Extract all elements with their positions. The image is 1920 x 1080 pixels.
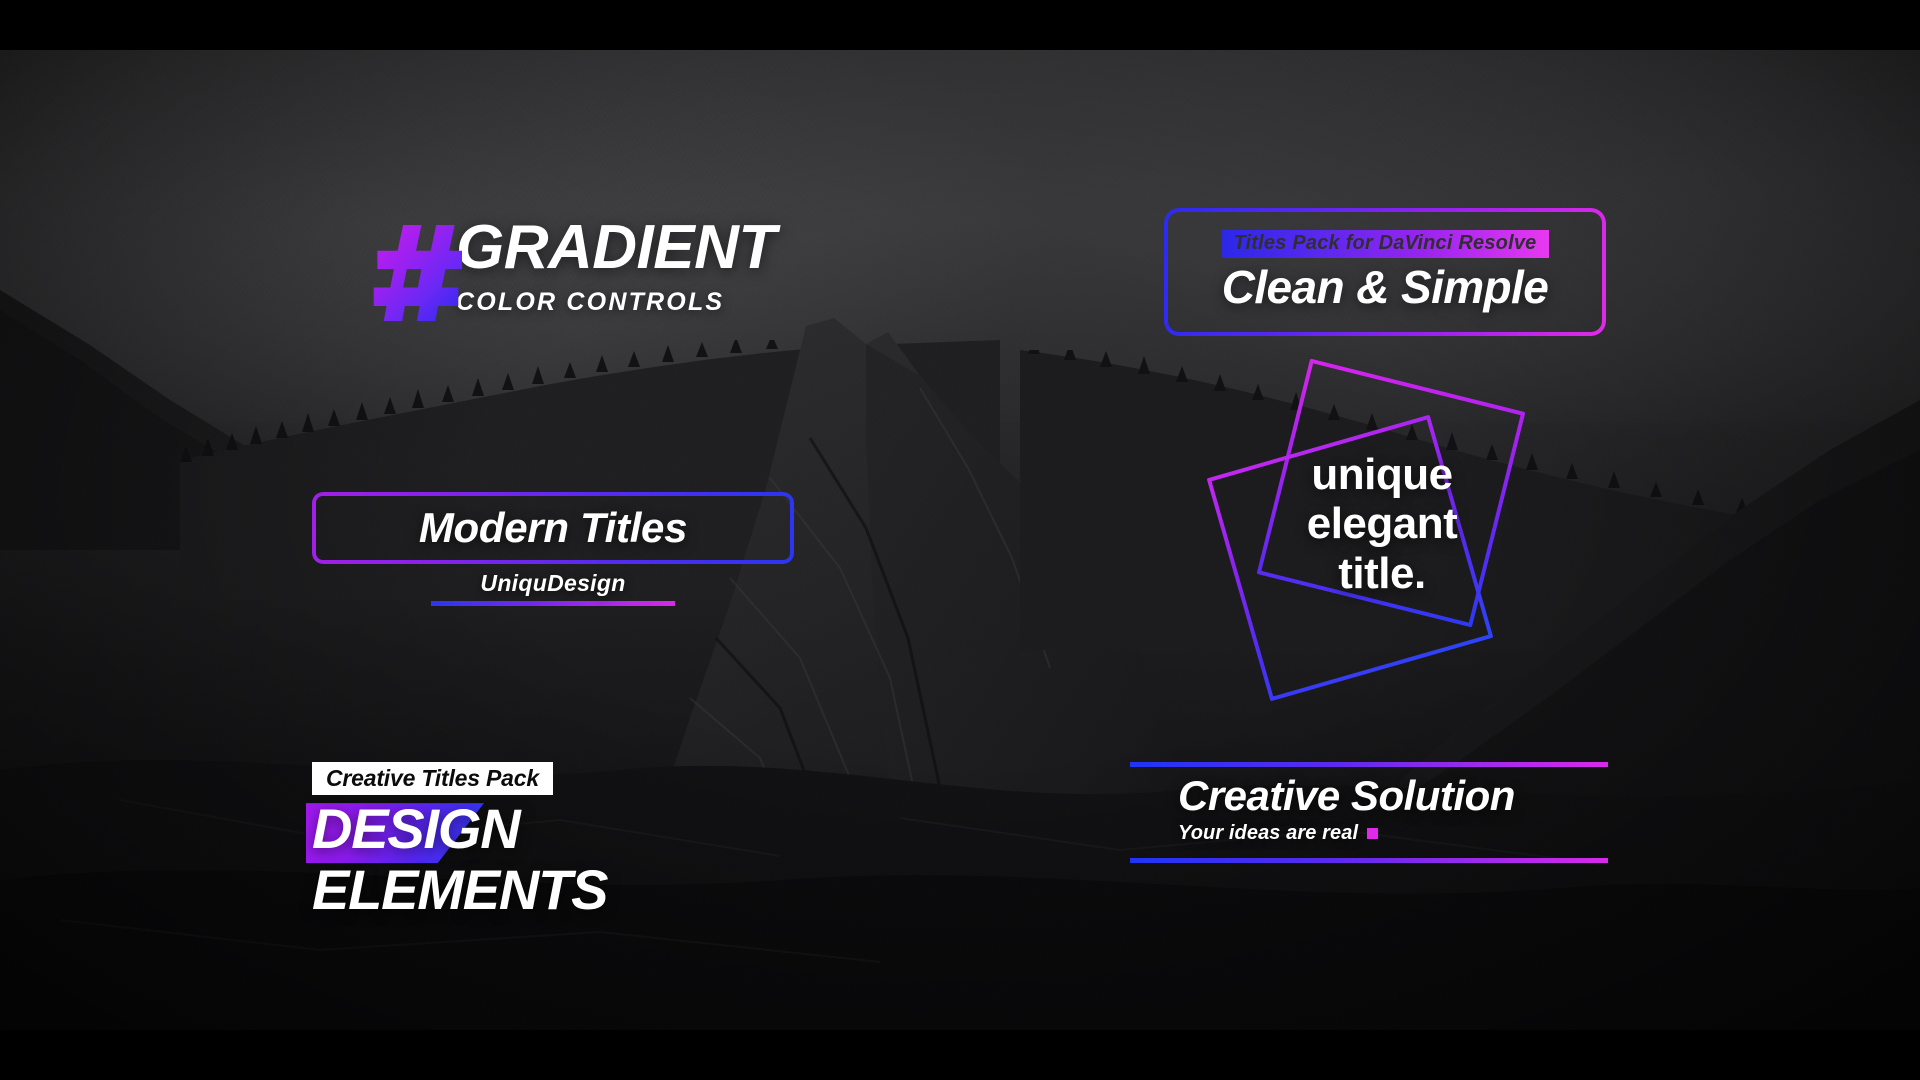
modern-titles-subtitle-group: UniquDesign bbox=[312, 570, 794, 606]
modern-titles-underline bbox=[431, 601, 675, 606]
modern-titles-main-title: Modern Titles bbox=[419, 504, 687, 552]
elegant-line-2: elegant bbox=[1232, 499, 1532, 548]
clean-simple-content: Titles Pack for DaVinci Resolve Clean & … bbox=[1164, 208, 1606, 336]
gradient-subtitle: COLOR CONTROLS bbox=[456, 288, 776, 317]
creative-solution-body: Creative Solution Your ideas are real bbox=[1130, 767, 1608, 847]
davinci-resolve-badge: Titles Pack for DaVinci Resolve bbox=[1222, 230, 1549, 258]
elegant-line-3: title. bbox=[1232, 549, 1532, 598]
gradient-main-title: GRADIENT bbox=[456, 217, 776, 279]
background-photo bbox=[0, 50, 1920, 1030]
gradient-text-group: GRADIENT COLOR CONTROLS bbox=[456, 217, 776, 317]
clean-simple-main-title: Clean & Simple bbox=[1222, 263, 1548, 313]
design-elements-main-wrap: DESIGN ELEMENTS bbox=[312, 799, 802, 861]
accent-square-icon bbox=[1367, 828, 1378, 839]
letterbox-bottom bbox=[0, 1030, 1920, 1080]
elegant-line-1: unique bbox=[1232, 450, 1532, 499]
letterbox-top bbox=[0, 0, 1920, 50]
title-gradient-color-controls: GRADIENT COLOR CONTROLS bbox=[370, 215, 776, 321]
title-clean-simple: Titles Pack for DaVinci Resolve Clean & … bbox=[1164, 208, 1606, 336]
title-creative-solution: Creative Solution Your ideas are real bbox=[1130, 762, 1608, 870]
creative-titles-pack-tag: Creative Titles Pack bbox=[312, 762, 553, 795]
modern-titles-subtitle: UniquDesign bbox=[312, 570, 794, 597]
creative-solution-main-title: Creative Solution bbox=[1178, 773, 1608, 819]
unique-elegant-text: unique elegant title. bbox=[1232, 450, 1532, 598]
title-design-elements: Creative Titles Pack DESIGN ELEMENTS bbox=[312, 762, 802, 870]
modern-titles-content: Modern Titles bbox=[312, 492, 794, 564]
title-modern-titles: Modern Titles UniquDesign bbox=[312, 492, 794, 564]
creative-solution-subtitle-row: Your ideas are real bbox=[1178, 822, 1608, 845]
hashtag-icon bbox=[370, 221, 462, 321]
video-preview-stage: GRADIENT COLOR CONTROLS Titles Pack for … bbox=[0, 0, 1920, 1080]
vignette bbox=[0, 50, 1920, 1030]
title-unique-elegant: unique elegant title. bbox=[1232, 388, 1532, 688]
creative-solution-subtitle: Your ideas are real bbox=[1178, 822, 1358, 845]
design-elements-main-title: DESIGN ELEMENTS bbox=[312, 799, 802, 920]
creative-solution-rule-bottom bbox=[1130, 858, 1608, 863]
